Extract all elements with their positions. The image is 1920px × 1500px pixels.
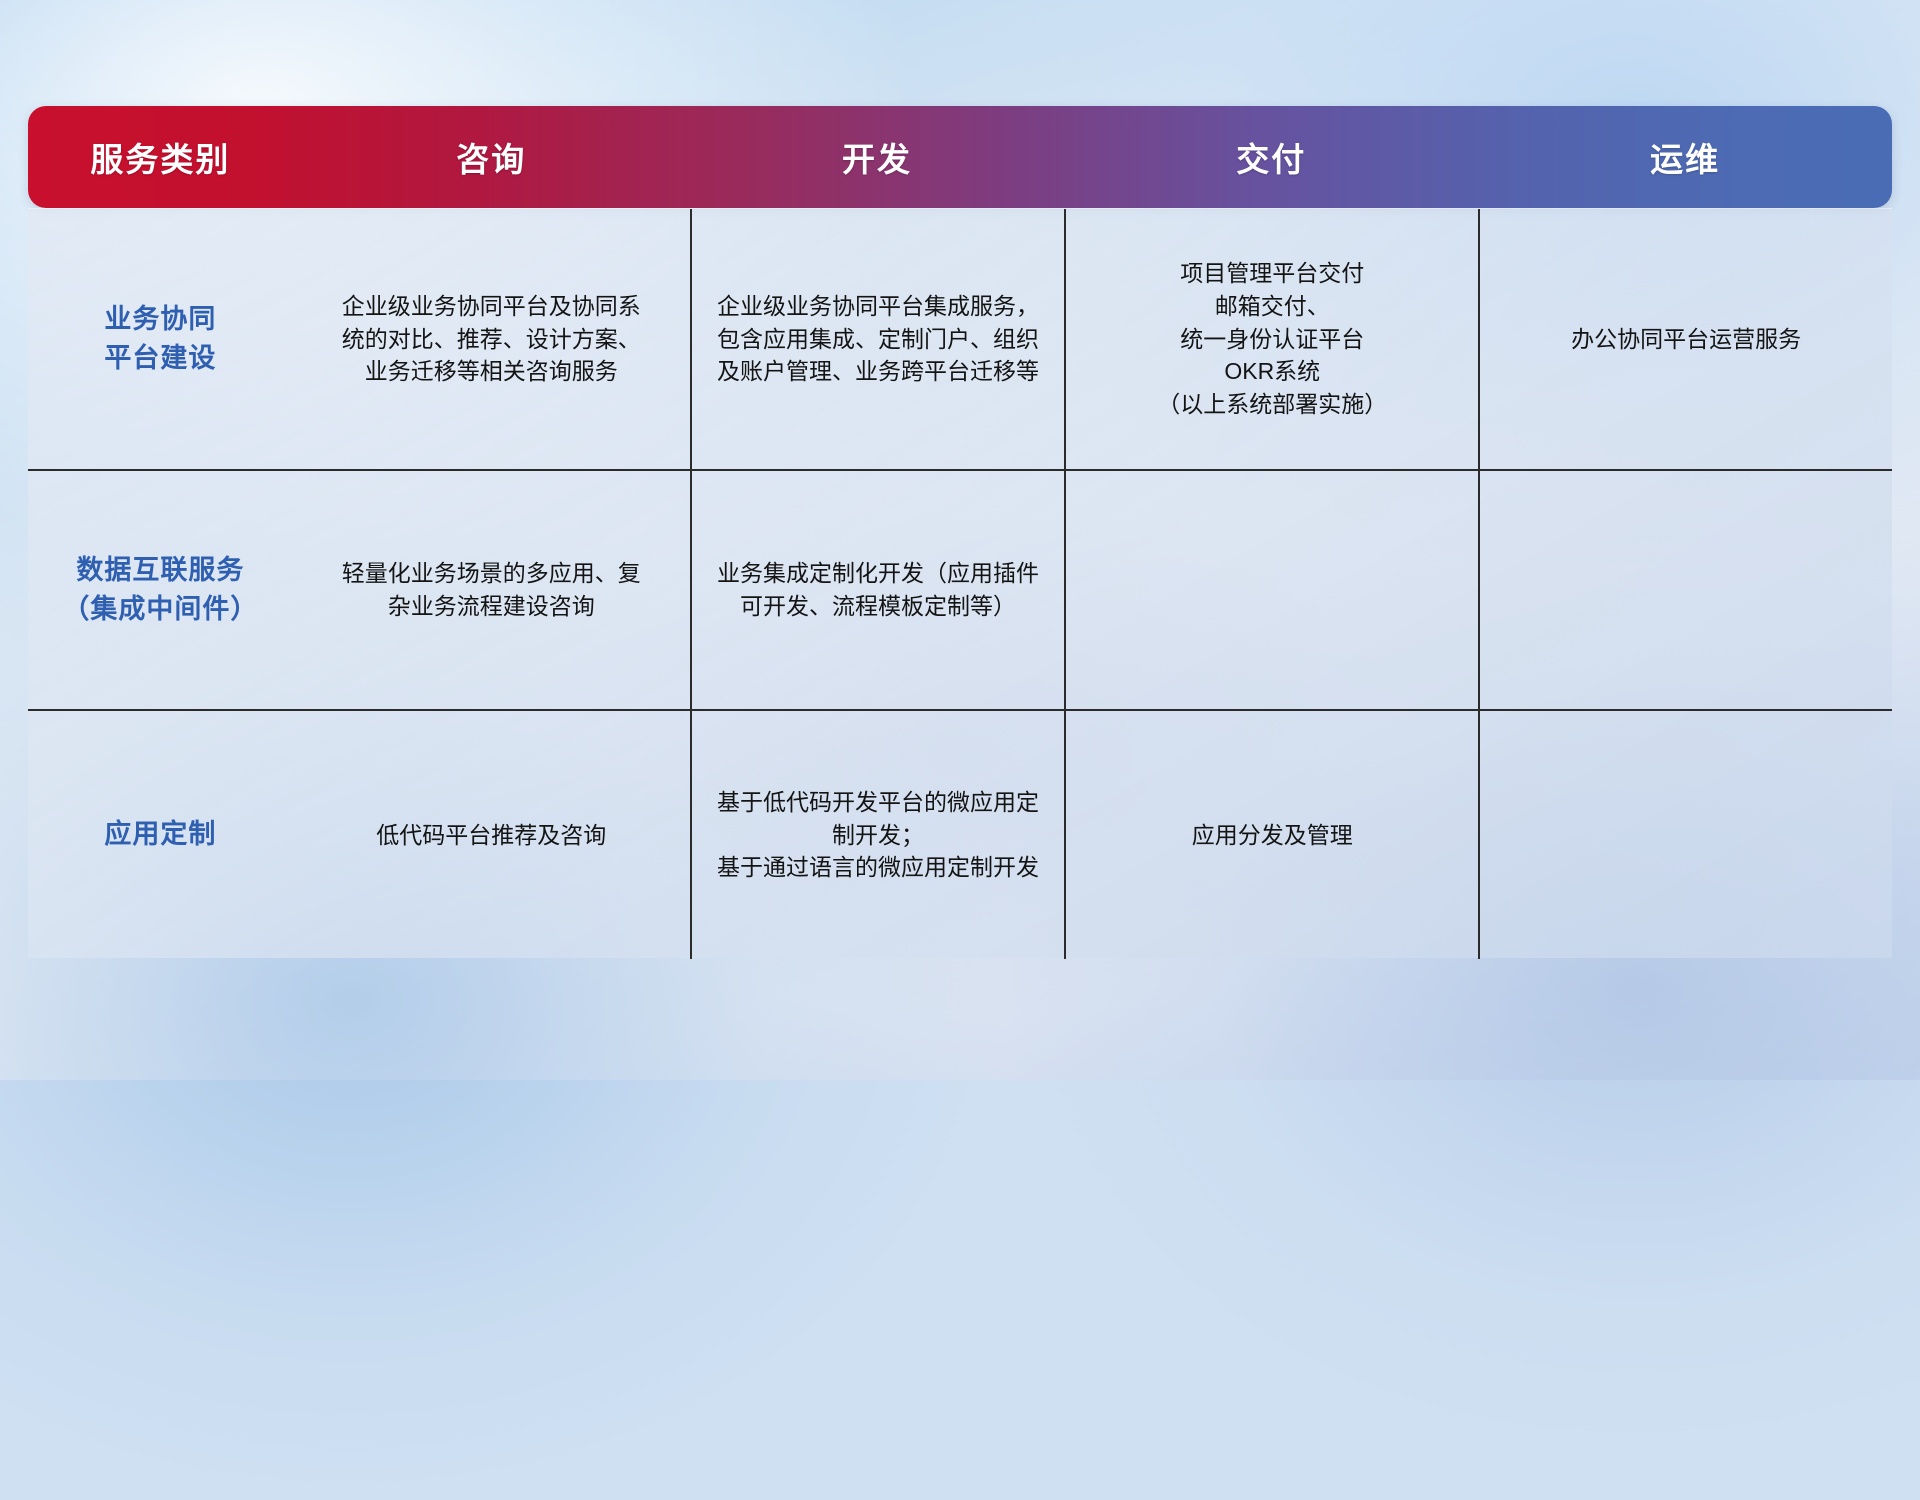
column-header-consulting: 咨询: [293, 133, 690, 181]
table-header-row: 服务类别 咨询 开发 交付 运维: [28, 106, 1892, 208]
service-matrix-table: 服务类别 咨询 开发 交付 运维 业务协同 平台建设 企业级业务协同平台及协同系…: [28, 106, 1892, 958]
cell-development: 企业级业务协同平台集成服务， 包含应用集成、定制门户、组织 及账户管理、业务跨平…: [690, 209, 1065, 469]
table-body: 业务协同 平台建设 企业级业务协同平台及协同系 统的对比、推荐、设计方案、 业务…: [28, 208, 1892, 958]
cell-operations: [1478, 711, 1892, 959]
row-category-label: 数据互联服务 （集成中间件）: [28, 471, 293, 709]
column-header-service-category: 服务类别: [28, 133, 293, 181]
cell-delivery: 项目管理平台交付 邮箱交付、 统一身份认证平台 OKR系统 （以上系统部署实施）: [1064, 209, 1478, 469]
cell-operations: 办公协同平台运营服务: [1478, 209, 1892, 469]
cell-consulting: 低代码平台推荐及咨询: [293, 711, 690, 959]
cell-consulting: 企业级业务协同平台及协同系 统的对比、推荐、设计方案、 业务迁移等相关咨询服务: [293, 209, 690, 469]
cell-development: 业务集成定制化开发（应用插件 可开发、流程模板定制等）: [690, 471, 1065, 709]
column-header-operations: 运维: [1478, 133, 1892, 181]
column-header-development: 开发: [690, 133, 1065, 181]
row-category-label: 业务协同 平台建设: [28, 209, 293, 469]
table-row: 应用定制 低代码平台推荐及咨询 基于低代码开发平台的微应用定 制开发； 基于通过…: [28, 711, 1892, 959]
cell-delivery: [1064, 471, 1478, 709]
cell-development: 基于低代码开发平台的微应用定 制开发； 基于通过语言的微应用定制开发: [690, 711, 1065, 959]
column-header-delivery: 交付: [1064, 133, 1478, 181]
cell-consulting: 轻量化业务场景的多应用、复 杂业务流程建设咨询: [293, 471, 690, 709]
cell-delivery: 应用分发及管理: [1064, 711, 1478, 959]
table-row: 数据互联服务 （集成中间件） 轻量化业务场景的多应用、复 杂业务流程建设咨询 业…: [28, 471, 1892, 711]
table-row: 业务协同 平台建设 企业级业务协同平台及协同系 统的对比、推荐、设计方案、 业务…: [28, 209, 1892, 471]
row-category-label: 应用定制: [28, 711, 293, 959]
cell-operations: [1478, 471, 1892, 709]
